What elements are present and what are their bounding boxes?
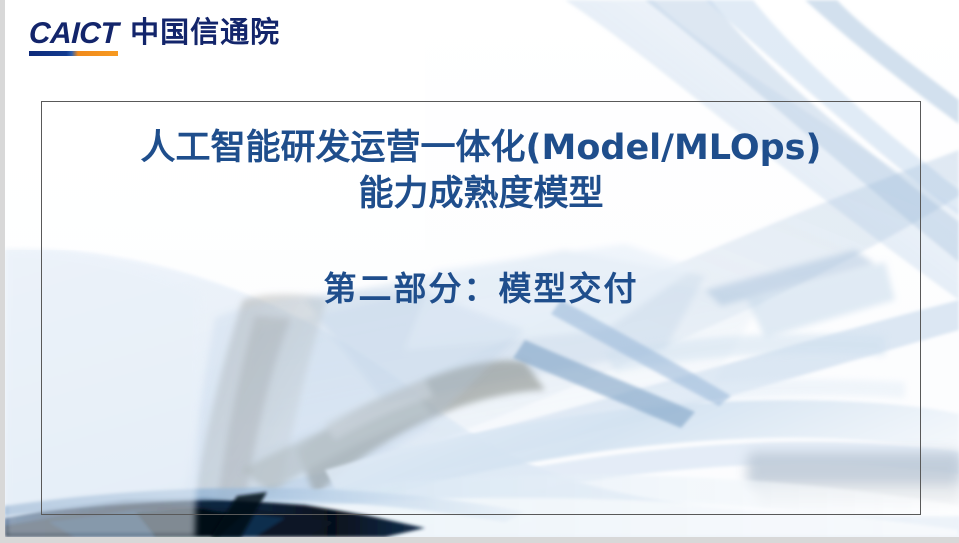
- caict-chinese-name: 中国信通院: [130, 18, 280, 56]
- caict-logo-mark: CAICT: [29, 19, 118, 56]
- caict-logo: CAICT 中国信通院: [29, 18, 280, 56]
- caict-logo-underline-icon: [29, 51, 118, 56]
- slide-surface: CAICT 中国信通院 人工智能研发运营一体化(Model/MLOps) 能力成…: [5, 0, 959, 537]
- page-subtitle: 第二部分：模型交付: [41, 217, 921, 309]
- page-title: 人工智能研发运营一体化(Model/MLOps) 能力成熟度模型: [41, 125, 921, 217]
- page-title-line-1: 人工智能研发运营一体化(Model/MLOps): [141, 128, 822, 168]
- title-block: 人工智能研发运营一体化(Model/MLOps) 能力成熟度模型 第二部分：模型…: [41, 125, 921, 309]
- slide-canvas: CAICT 中国信通院 人工智能研发运营一体化(Model/MLOps) 能力成…: [0, 0, 959, 543]
- caict-acronym: CAICT: [28, 19, 118, 49]
- page-title-line-2: 能力成熟度模型: [41, 171, 921, 217]
